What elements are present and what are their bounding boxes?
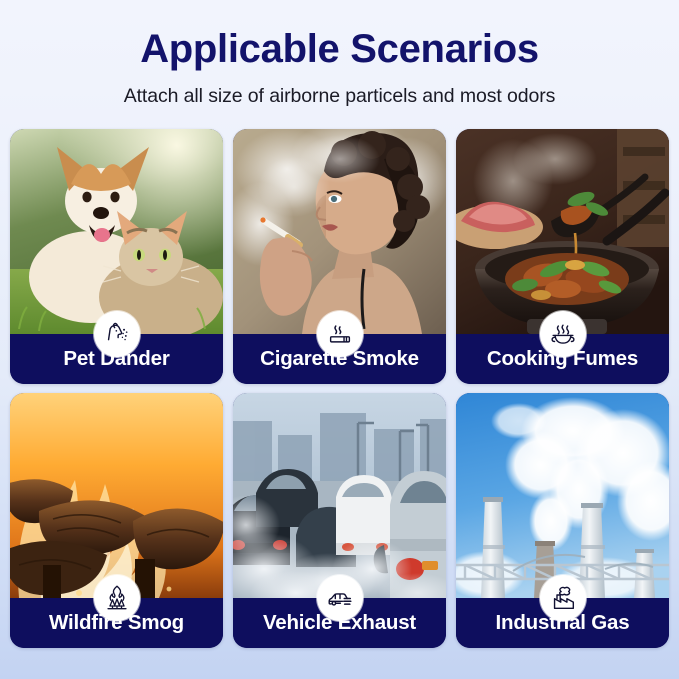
page-header: Applicable Scenarios Attach all size of … xyxy=(0,0,679,108)
burning-logs-fire-photo xyxy=(10,393,223,598)
cigarette-icon xyxy=(317,311,363,357)
wok-stir-fry-photo xyxy=(456,129,669,334)
dog-and-cat-on-grass-photo xyxy=(10,129,223,334)
scenario-card-grid: Pet Dander xyxy=(10,129,669,648)
scenario-card-wildfire-smog[interactable]: Wildfire Smog xyxy=(10,393,223,648)
page-subtitle: Attach all size of airborne particels an… xyxy=(0,85,679,108)
page-title: Applicable Scenarios xyxy=(0,26,679,72)
woman-smoking-cigarette-photo xyxy=(233,129,446,334)
car-exhaust-icon xyxy=(317,575,363,621)
factory-icon xyxy=(540,575,586,621)
scenario-card-industrial-gas[interactable]: Industrial Gas xyxy=(456,393,669,648)
dog-dander-icon xyxy=(94,311,140,357)
scenario-card-cigarette-smoke[interactable]: Cigarette Smoke xyxy=(233,129,446,384)
scenario-card-pet-dander[interactable]: Pet Dander xyxy=(10,129,223,384)
burning-trees-icon xyxy=(94,575,140,621)
scenario-card-vehicle-exhaust[interactable]: Vehicle Exhaust xyxy=(233,393,446,648)
factory-smokestacks-photo xyxy=(456,393,669,598)
traffic-jam-exhaust-photo xyxy=(233,393,446,598)
steaming-pot-icon xyxy=(540,311,586,357)
scenario-card-cooking-fumes[interactable]: Cooking Fumes xyxy=(456,129,669,384)
